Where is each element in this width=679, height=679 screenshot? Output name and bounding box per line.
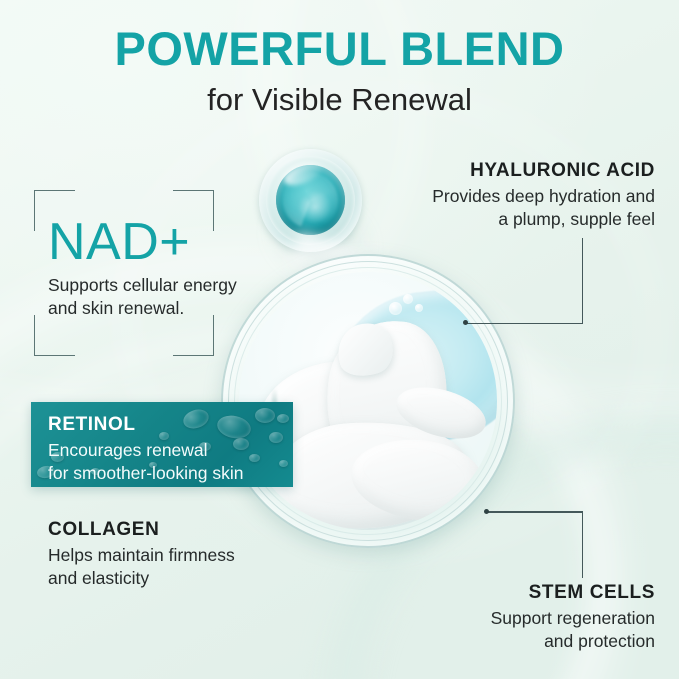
page-subtitle: for Visible Renewal bbox=[0, 83, 679, 117]
callout-stem-cells: STEM CELLS Support regeneration and prot… bbox=[365, 582, 655, 653]
callout-hyaluronic-acid: HYALURONIC ACID Provides deep hydration … bbox=[355, 160, 655, 231]
callout-stem-cells-description: Support regeneration and protection bbox=[365, 607, 655, 653]
corner-bracket-bottom-right bbox=[173, 315, 214, 356]
callout-collagen-heading: COLLAGEN bbox=[48, 519, 318, 541]
gel-bubble bbox=[389, 302, 402, 315]
product-infographic: POWERFUL BLEND for Visible Renewal bbox=[0, 0, 679, 679]
connector-segment bbox=[582, 238, 583, 324]
connector-segment bbox=[582, 511, 583, 578]
callout-stem-cells-heading: STEM CELLS bbox=[365, 582, 655, 604]
callout-nad-description-line: and skin renewal. bbox=[48, 297, 278, 320]
callout-collagen-description-line: Helps maintain firmness bbox=[48, 544, 318, 567]
callout-collagen-description: Helps maintain firmness and elasticity bbox=[48, 544, 318, 590]
callout-collagen: COLLAGEN Helps maintain firmness and ela… bbox=[48, 519, 318, 590]
callout-retinol-description: Encourages renewal for smoother-looking … bbox=[48, 439, 283, 485]
callout-hyaluronic-acid-description: Provides deep hydration and a plump, sup… bbox=[355, 185, 655, 231]
page-title: POWERFUL BLEND bbox=[0, 24, 679, 74]
callout-hyaluronic-acid-heading: HYALURONIC ACID bbox=[355, 160, 655, 182]
callout-stem-cells-description-line: and protection bbox=[365, 630, 655, 653]
gel-bubble bbox=[415, 304, 423, 312]
header: POWERFUL BLEND for Visible Renewal bbox=[0, 24, 679, 117]
callout-nad: NAD+ Supports cellular energy and skin r… bbox=[48, 216, 278, 321]
callout-retinol-description-line: Encourages renewal bbox=[48, 439, 283, 462]
callout-hyaluronic-acid-description-line: Provides deep hydration and bbox=[355, 185, 655, 208]
callout-nad-heading: NAD+ bbox=[48, 216, 278, 268]
callout-nad-description-line: Supports cellular energy bbox=[48, 274, 278, 297]
callout-hyaluronic-acid-description-line: a plump, supple feel bbox=[355, 208, 655, 231]
callout-nad-description: Supports cellular energy and skin renewa… bbox=[48, 274, 278, 321]
gel-bubble bbox=[403, 294, 413, 304]
callout-retinol: RETINOL Encourages renewal for smoother-… bbox=[31, 402, 293, 487]
callout-retinol-heading: RETINOL bbox=[48, 414, 283, 437]
corner-bracket-bottom-left bbox=[34, 315, 75, 356]
callout-stem-cells-description-line: Support regeneration bbox=[365, 607, 655, 630]
callout-retinol-text: RETINOL Encourages renewal for smoother-… bbox=[48, 414, 283, 484]
callout-retinol-description-line: for smoother-looking skin bbox=[48, 462, 283, 485]
callout-collagen-description-line: and elasticity bbox=[48, 567, 318, 590]
